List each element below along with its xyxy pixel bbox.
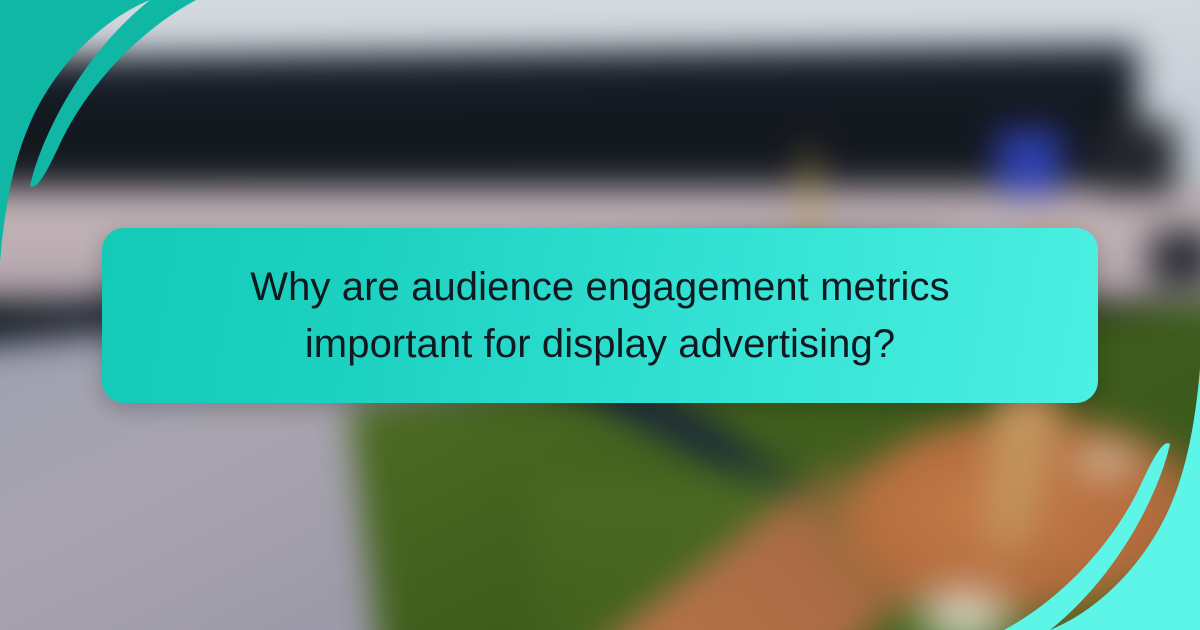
home-plate-highlight — [907, 578, 1022, 630]
question-card: Why are audience engagement metrics impo… — [102, 228, 1098, 403]
dark-signage-secondary — [1150, 230, 1200, 287]
dark-signage — [1099, 123, 1176, 194]
question-line-2: important for display advertising? — [305, 322, 895, 366]
question-line-1: Why are audience engagement metrics — [250, 265, 949, 309]
question-text: Why are audience engagement metrics impo… — [250, 259, 949, 373]
page-canvas: Why are audience engagement metrics impo… — [0, 0, 1200, 630]
blue-signage — [997, 130, 1061, 194]
base-highlight — [1061, 436, 1151, 486]
